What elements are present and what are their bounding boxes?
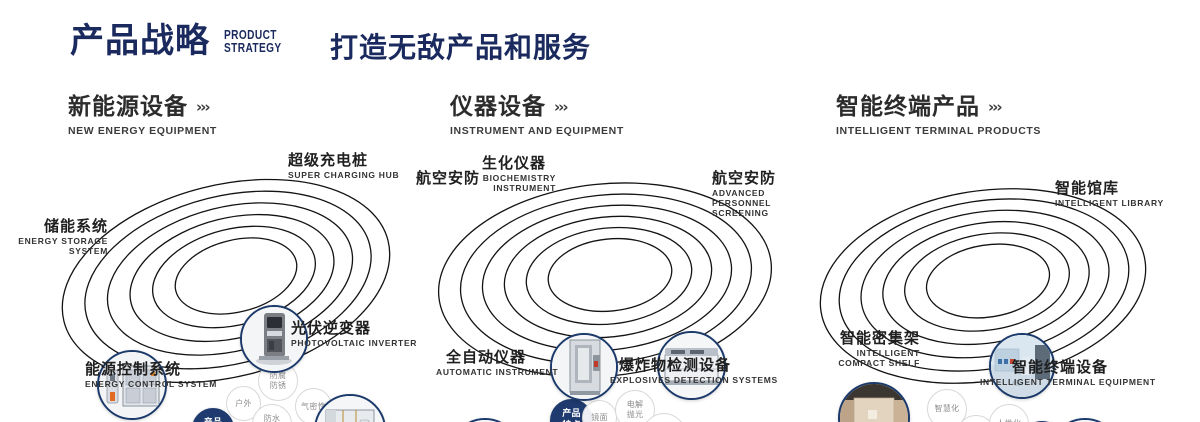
intelligent-compact-shelf-icon (840, 384, 908, 422)
page-subtitle: 打造无敌产品和服务 (330, 34, 591, 62)
photovoltaic-inverter-icon (316, 396, 384, 422)
intelligent-compact-shelf-photo (840, 384, 908, 422)
feature-chip-core-line1: 产品 (562, 409, 581, 420)
node-photovoltaic-inverter[interactable] (314, 394, 386, 422)
page-title-cn: 产品战略 (70, 24, 210, 58)
label-photovoltaic-inverter: 光伏逆变器 PHOTOVOLTAIC INVERTER (291, 320, 417, 349)
section-title-en: INTELLIGENT TERMINAL PRODUCTS (836, 125, 1041, 137)
chevron-right-icon: ››› (196, 99, 209, 116)
section-title-en: INSTRUMENT AND EQUIPMENT (450, 125, 624, 137)
chevron-right-icon: ››› (988, 99, 1001, 116)
section-title-cn: 仪器设备 ››› (450, 95, 624, 120)
section-title-cn: 新能源设备 ››› (68, 95, 217, 120)
section-title-cn: 智能终端产品 ››› (836, 95, 1041, 120)
biochemistry-instrument-icon (552, 335, 616, 399)
label-energy-storage-system: 储能系统 ENERGY STORAGE SYSTEM (16, 218, 108, 257)
section-title-instrument: 仪器设备 ››› INSTRUMENT AND EQUIPMENT (450, 95, 624, 137)
label-intelligent-terminal-equipment: 智能终端设备 INTELLIGENT TERMINAL EQUIPMENT (980, 359, 1140, 388)
label-explosives-detection-systems: 爆炸物检测设备 EXPLOSIVES DETECTION SYSTEMS (610, 357, 740, 386)
photovoltaic-inverter-photo (316, 396, 384, 422)
page-title: 产品战略 PRODUCT STRATEGY (70, 24, 298, 58)
node-intelligent-terminal-equipment[interactable] (1050, 418, 1120, 422)
node-biochemistry-instrument[interactable] (550, 333, 618, 401)
feature-chip-intelligent: 智慧化 (927, 389, 967, 422)
cluster-intelligent-terminal: 智慧化 数字化 人性化 产品 特点 (800, 150, 1200, 400)
section-title-text: 智能终端产品 (836, 95, 980, 120)
section-title-en: NEW ENERGY EQUIPMENT (68, 125, 217, 137)
page-title-en-line1: PRODUCT (224, 28, 282, 42)
node-intelligent-compact-shelf[interactable] (838, 382, 910, 422)
section-title-new-energy: 新能源设备 ››› NEW ENERGY EQUIPMENT (68, 95, 217, 137)
node-automatic-instrument[interactable] (450, 418, 520, 422)
label-aviation-security-left: 航空安防 (416, 170, 480, 187)
product-strategy-infographic: 产品战略 PRODUCT STRATEGY 打造无敌产品和服务 新能源设备 ››… (0, 0, 1200, 422)
cluster-new-energy: 产品 特点 户外 防腐 防锈 防水 防尘 气密性 (40, 150, 440, 400)
label-automatic-instrument: 全自动仪器 EXPLOSIVES DETECTION SYSTEMS AUTOM… (436, 349, 536, 378)
label-energy-control-system: 能源控制系统 ENERGY CONTROL SYSTEM (85, 361, 217, 390)
chevron-right-icon: ››› (554, 99, 567, 116)
label-intelligent-library: 智能馆库 INTELLIGENT LIBRARY (1055, 180, 1164, 209)
feature-chip-core-line1: 产品 (204, 418, 223, 422)
cluster-instrument: 产品 特点 镜面 电解 抛光 零缺陷 钣金与 机加工结合 (410, 150, 820, 400)
section-title-text: 仪器设备 (450, 95, 546, 120)
label-biochemistry-instrument: 生化仪器 BIOCHEMISTRY INSTRUMENT (482, 155, 556, 194)
biochemistry-instrument-photo (552, 335, 616, 399)
label-intelligent-compact-shelf: 智能密集架 INTELLIGENT COMPACT SHELF (810, 330, 920, 369)
feature-chip-humanized: 人性化 (989, 404, 1029, 422)
section-title-text: 新能源设备 (68, 95, 188, 120)
label-super-charging-hub: 超级充电桩 SUPER CHARGING HUB (288, 152, 399, 181)
page-title-en-line2: STRATEGY (224, 41, 282, 55)
section-title-intelligent-terminal: 智能终端产品 ››› INTELLIGENT TERMINAL PRODUCTS (836, 95, 1041, 137)
page-title-en: PRODUCT STRATEGY (224, 28, 282, 58)
feature-chip-mirror: 镜面 (582, 400, 617, 422)
